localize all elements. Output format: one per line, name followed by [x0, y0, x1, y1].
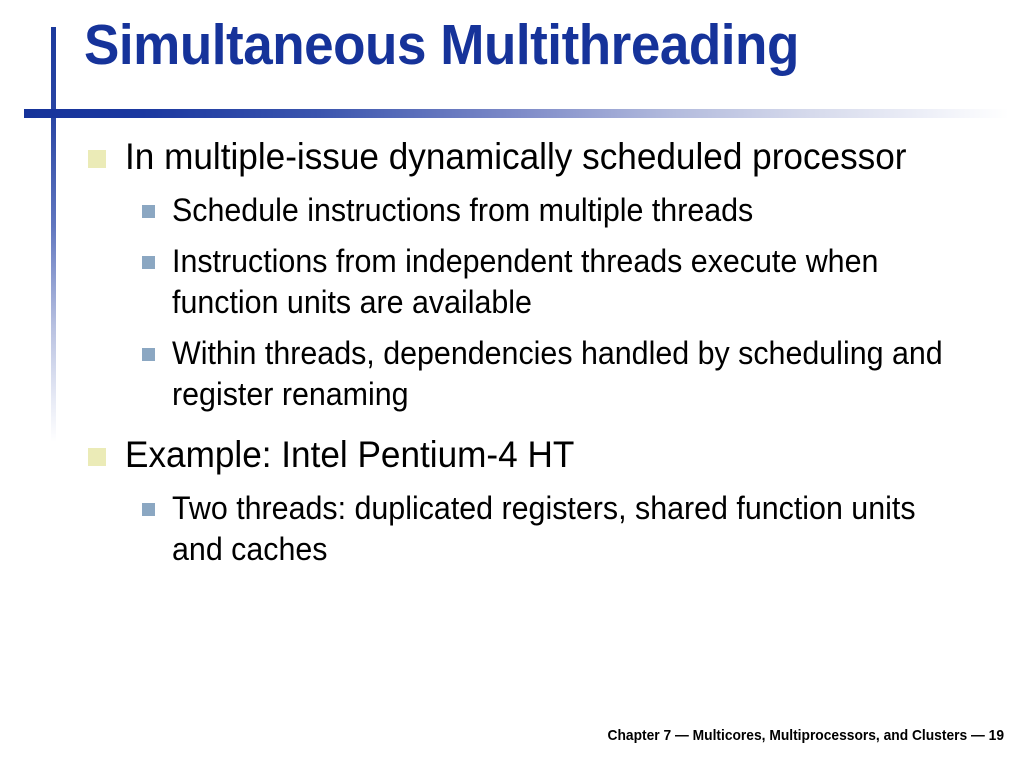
bullet-item-level2: Instructions from independent threads ex…	[0, 241, 1024, 323]
horizontal-accent-rule	[24, 109, 1009, 118]
spacer	[0, 325, 1024, 333]
slide-footer: Chapter 7 — Multicores, Multiprocessors,…	[80, 727, 1004, 744]
bullet-marker-icon	[88, 150, 106, 168]
bullet-marker-icon	[142, 205, 155, 218]
bullet-item-level1: Example: Intel Pentium-4 HT	[0, 431, 1024, 478]
bullet-item-level2: Within threads, dependencies handled by …	[0, 333, 1024, 415]
bullet-text: Within threads, dependencies handled by …	[172, 333, 964, 415]
bullet-item-level2: Schedule instructions from multiple thre…	[0, 190, 1024, 231]
bullet-item-level1: In multiple-issue dynamically scheduled …	[0, 133, 1024, 180]
slide: Simultaneous Multithreading In multiple-…	[0, 0, 1024, 768]
spacer	[0, 233, 1024, 241]
slide-body: In multiple-issue dynamically scheduled …	[0, 133, 1024, 572]
bullet-text: Example: Intel Pentium-4 HT	[125, 431, 956, 478]
spacer	[0, 417, 1024, 431]
bullet-text: Schedule instructions from multiple thre…	[172, 190, 964, 231]
bullet-text: In multiple-issue dynamically scheduled …	[125, 133, 956, 180]
spacer	[0, 182, 1024, 190]
bullet-marker-icon	[142, 503, 155, 516]
bullet-marker-icon	[142, 256, 155, 269]
bullet-marker-icon	[88, 448, 106, 466]
bullet-item-level2: Two threads: duplicated registers, share…	[0, 488, 1024, 570]
spacer	[0, 480, 1024, 488]
bullet-text: Instructions from independent threads ex…	[172, 241, 964, 323]
bullet-marker-icon	[142, 348, 155, 361]
bullet-text: Two threads: duplicated registers, share…	[172, 488, 964, 570]
slide-title: Simultaneous Multithreading	[84, 16, 921, 76]
